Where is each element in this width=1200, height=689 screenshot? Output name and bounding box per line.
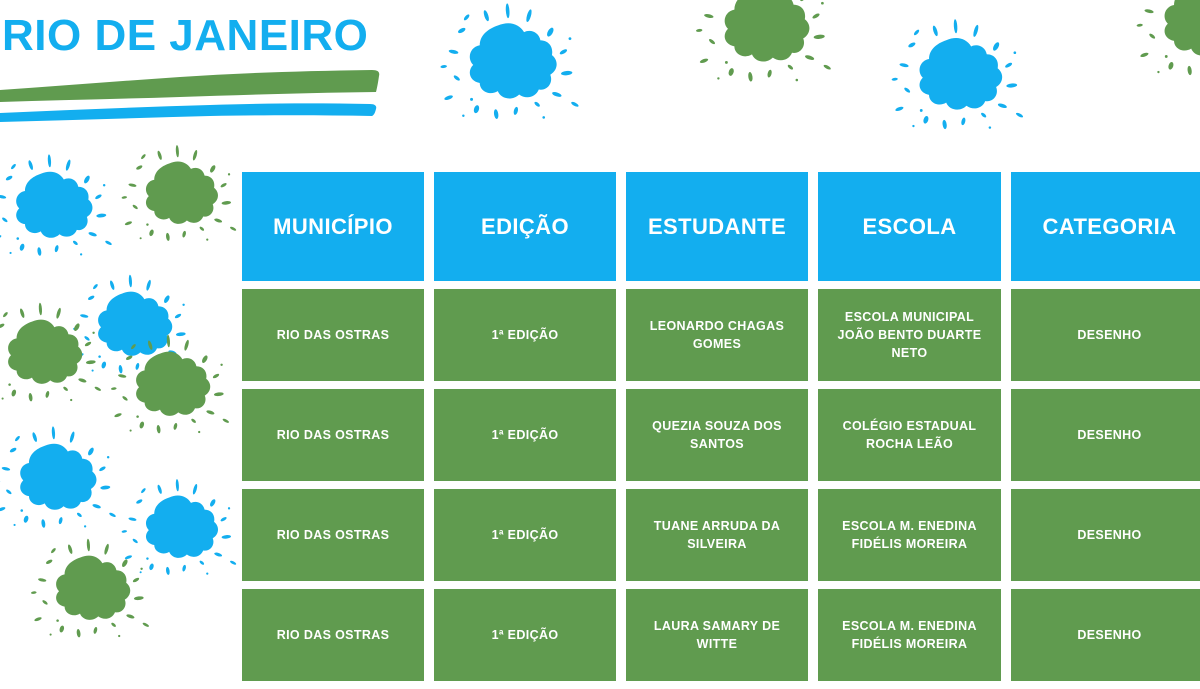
cell-estudante: LAURA SAMARY DE WITTE (626, 589, 808, 681)
cell-escola: ESCOLA M. ENEDINA FIDÉLIS MOREIRA (818, 589, 1001, 681)
results-table: MUNICÍPIO EDIÇÃO ESTUDANTE ESCOLA CATEGO… (242, 172, 1200, 689)
paint-splatter-band-top (420, 0, 1200, 144)
page-title: RIO DE JANEIRO (0, 10, 400, 62)
table-header-row: MUNICÍPIO EDIÇÃO ESTUDANTE ESCOLA CATEGO… (242, 172, 1200, 281)
cell-estudante: TUANE ARRUDA DA SILVEIRA (626, 489, 808, 581)
cell-estudante: LEONARDO CHAGAS GOMES (626, 289, 808, 381)
title-underline-group (0, 68, 395, 123)
column-header-municipio: MUNICÍPIO (242, 172, 424, 281)
title-block: RIO DE JANEIRO (0, 10, 400, 120)
cell-municipio: RIO DAS OSTRAS (242, 289, 424, 381)
cell-edicao: 1ª EDIÇÃO (434, 289, 616, 381)
cell-escola: ESCOLA M. ENEDINA FIDÉLIS MOREIRA (818, 489, 1001, 581)
column-header-estudante: ESTUDANTE (626, 172, 808, 281)
table-row: RIO DAS OSTRAS 1ª EDIÇÃO LEONARDO CHAGAS… (242, 289, 1200, 381)
table-row: RIO DAS OSTRAS 1ª EDIÇÃO TUANE ARRUDA DA… (242, 489, 1200, 581)
paint-splatter-band-left (0, 140, 239, 640)
cell-municipio: RIO DAS OSTRAS (242, 489, 424, 581)
cell-edicao: 1ª EDIÇÃO (434, 389, 616, 481)
cell-municipio: RIO DAS OSTRAS (242, 389, 424, 481)
brush-stroke-green (0, 70, 379, 102)
column-header-edicao: EDIÇÃO (434, 172, 616, 281)
cell-edicao: 1ª EDIÇÃO (434, 589, 616, 681)
cell-categoria: DESENHO (1011, 489, 1200, 581)
cell-escola: ESCOLA MUNICIPAL JOÃO BENTO DUARTE NETO (818, 289, 1001, 381)
cell-edicao: 1ª EDIÇÃO (434, 489, 616, 581)
cell-estudante: QUEZIA SOUZA DOS SANTOS (626, 389, 808, 481)
column-header-categoria: CATEGORIA (1011, 172, 1200, 281)
cell-categoria: DESENHO (1011, 589, 1200, 681)
table-row: RIO DAS OSTRAS 1ª EDIÇÃO LAURA SAMARY DE… (242, 589, 1200, 681)
brush-stroke-blue (0, 103, 376, 122)
table-row: RIO DAS OSTRAS 1ª EDIÇÃO QUEZIA SOUZA DO… (242, 389, 1200, 481)
cell-categoria: DESENHO (1011, 289, 1200, 381)
cell-municipio: RIO DAS OSTRAS (242, 589, 424, 681)
cell-categoria: DESENHO (1011, 389, 1200, 481)
column-header-escola: ESCOLA (818, 172, 1001, 281)
cell-escola: COLÉGIO ESTADUAL ROCHA LEÃO (818, 389, 1001, 481)
